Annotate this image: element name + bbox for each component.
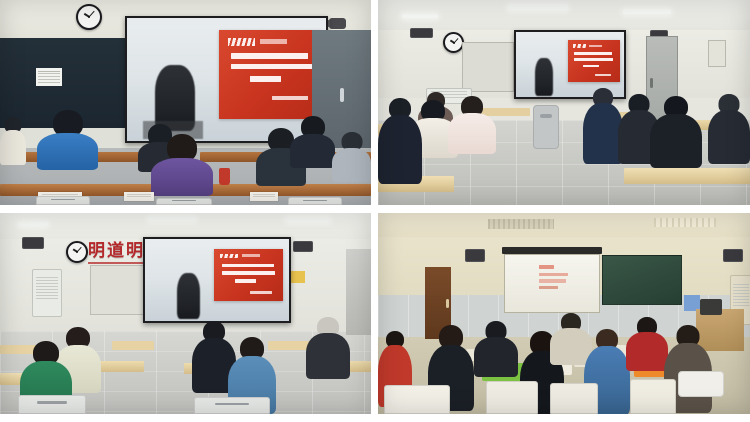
speaker-icon (465, 249, 485, 262)
ac-unit (32, 269, 62, 317)
ceiling-vent (488, 219, 554, 229)
whiteboard (90, 265, 146, 315)
lecturer-silhouette (177, 273, 200, 319)
speaker-icon (410, 28, 433, 38)
chair (550, 383, 598, 414)
wall-sign (708, 40, 726, 67)
slide-logo-icon (220, 254, 238, 259)
chair (630, 379, 676, 414)
ceiling-light (18, 222, 48, 226)
attendee (290, 116, 335, 168)
door-handle-icon (446, 299, 449, 308)
attendee (708, 94, 750, 164)
attendee (448, 96, 496, 154)
attendee (332, 132, 371, 182)
speaker-icon (723, 249, 743, 262)
wall-clock-icon (76, 4, 102, 30)
wall-clock-icon (443, 32, 464, 53)
notebook (250, 192, 278, 201)
speaker-icon (22, 237, 44, 249)
attendee (0, 117, 26, 165)
chair (384, 385, 450, 414)
ceiling-light (148, 216, 196, 221)
attendee (583, 88, 623, 164)
slide-subtitle (260, 39, 287, 44)
wall-sign (289, 271, 305, 283)
chair (156, 198, 212, 205)
ceiling-light (286, 217, 330, 222)
chair (486, 381, 538, 414)
slide-logo-icon (573, 44, 586, 48)
slide-subtitle (589, 45, 602, 47)
slide-content (568, 40, 620, 82)
door-handle-icon (340, 88, 344, 102)
wall-clock-icon (66, 241, 88, 263)
attendee (474, 321, 518, 377)
slide-content (219, 30, 322, 119)
desk (112, 341, 154, 350)
ceiling-light (623, 9, 671, 14)
attendee (151, 134, 213, 196)
wall-banner: 明 道 明 (88, 241, 148, 261)
notebook (124, 192, 154, 201)
projection-screen (504, 254, 600, 313)
attendee (650, 96, 702, 168)
chalkboard (602, 255, 682, 305)
slide-content (539, 265, 571, 295)
attendee (626, 317, 668, 371)
blackboard-notice (36, 68, 62, 86)
attendee (306, 317, 350, 379)
banner-char-1: 明 (88, 243, 105, 260)
equipment (700, 299, 722, 315)
ceiling-light-panel (654, 218, 716, 227)
attendee (37, 110, 98, 170)
photo-collage: 明 道 明 (0, 0, 750, 422)
slide-subtitle (242, 254, 260, 257)
chair (288, 197, 342, 205)
banner-char-3: 明 (126, 243, 143, 260)
chair (36, 196, 90, 205)
chair (18, 395, 86, 414)
roll-down-screen-housing (502, 247, 602, 254)
projector-icon (329, 18, 346, 29)
empty-chair (533, 105, 559, 149)
slide-logo-icon (228, 38, 255, 46)
bag (678, 371, 724, 397)
photo-bottom-left[interactable]: 明 道 明 (0, 213, 371, 414)
slide-content (214, 249, 283, 301)
ceiling-light (402, 14, 438, 18)
desk (624, 168, 750, 184)
door-handle-icon (650, 78, 653, 88)
photo-top-right[interactable] (378, 0, 750, 205)
speaker-icon (293, 241, 313, 252)
photo-top-left[interactable] (0, 0, 371, 205)
lecturer-silhouette (535, 58, 552, 96)
whiteboard (462, 42, 514, 92)
thermos-cup (219, 168, 230, 185)
projection-screen (143, 237, 291, 323)
banner-char-2: 道 (107, 243, 124, 260)
photo-bottom-right[interactable] (378, 213, 750, 414)
attendee (378, 98, 422, 184)
ceiling-light (508, 4, 568, 10)
chair (194, 397, 270, 414)
